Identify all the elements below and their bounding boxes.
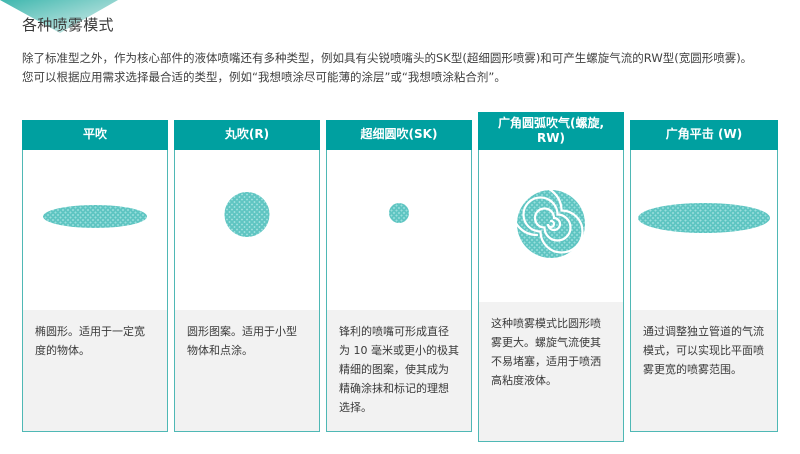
intro-paragraph: 除了标准型之外，作为核心部件的液体喷嘴还有多种类型，例如具有尖锐喷嘴头的SK型(… — [0, 35, 800, 87]
page-content: 各种喷雾模式 除了标准型之外，作为核心部件的液体喷嘴还有多种类型，例如具有尖锐喷… — [0, 0, 800, 87]
flat-ellipse-shape — [43, 205, 147, 228]
wide-ellipse-shape — [638, 203, 770, 233]
description-sk: 锋利的喷嘴可形成直径为 10 毫米或更小的极其精细的图案，使其成为精确涂抹和标记… — [327, 310, 471, 431]
page-title: 各种喷雾模式 — [0, 0, 800, 35]
spray-pattern-table: 平吹 椭圆形。适用于一定宽度的物体。 丸吹(R) 圆形图案。适用于小型物体和点涂… — [22, 112, 778, 442]
column-header-sk: 超细圆吹(SK) — [326, 120, 472, 150]
figure-cell-sk — [327, 150, 471, 310]
column-body-flat: 椭圆形。适用于一定宽度的物体。 — [22, 150, 168, 432]
small-circle-shape — [389, 203, 409, 223]
column-body-rw: 这种喷雾模式比圆形喷雾更大。螺旋气流使其不易堵塞，适用于喷洒高粘度液体。 — [478, 150, 624, 442]
column-body-wide: 通过调整独立管道的气流模式，可以实现比平面喷雾更宽的喷雾范围。 — [630, 150, 778, 432]
spiral-circle-shape — [517, 190, 585, 258]
description-round: 圆形图案。适用于小型物体和点涂。 — [175, 310, 319, 431]
description-wide: 通过调整独立管道的气流模式，可以实现比平面喷雾更宽的喷雾范围。 — [631, 310, 777, 431]
column-header-wide: 广角平击 (W) — [630, 120, 778, 150]
description-flat: 椭圆形。适用于一定宽度的物体。 — [23, 310, 167, 431]
spray-column-wide[interactable]: 广角平击 (W) 通过调整独立管道的气流模式，可以实现比平面喷雾更宽的喷雾范围。 — [630, 120, 778, 432]
spiral-icon — [517, 190, 585, 258]
figure-cell-round — [175, 150, 319, 310]
spray-column-sk[interactable]: 超细圆吹(SK) 锋利的喷嘴可形成直径为 10 毫米或更小的极其精细的图案，使其… — [326, 120, 472, 432]
column-body-round: 圆形图案。适用于小型物体和点涂。 — [174, 150, 320, 432]
figure-cell-rw — [479, 150, 623, 302]
column-header-rw: 广角圆弧吹气(螺旋, RW) — [478, 112, 624, 150]
figure-cell-wide — [631, 150, 777, 310]
column-body-sk: 锋利的喷嘴可形成直径为 10 毫米或更小的极其精细的图案，使其成为精确涂抹和标记… — [326, 150, 472, 432]
spray-column-round[interactable]: 丸吹(R) 圆形图案。适用于小型物体和点涂。 — [174, 120, 320, 432]
figure-cell-flat — [23, 150, 167, 310]
spray-column-rw[interactable]: 广角圆弧吹气(螺旋, RW) 这种喷雾模式比圆形喷雾更大。螺旋气流使其不易堵塞，… — [478, 112, 624, 442]
intro-line-2: 您可以根据应用需求选择最合适的类型，例如“我想喷涂尽可能薄的涂层”或“我想喷涂粘… — [22, 68, 788, 87]
column-header-flat: 平吹 — [22, 120, 168, 150]
round-circle-shape — [225, 192, 270, 237]
column-header-round: 丸吹(R) — [174, 120, 320, 150]
intro-line-1: 除了标准型之外，作为核心部件的液体喷嘴还有多种类型，例如具有尖锐喷嘴头的SK型(… — [22, 49, 788, 68]
description-rw: 这种喷雾模式比圆形喷雾更大。螺旋气流使其不易堵塞，适用于喷洒高粘度液体。 — [479, 302, 623, 441]
spray-column-flat[interactable]: 平吹 椭圆形。适用于一定宽度的物体。 — [22, 120, 168, 432]
